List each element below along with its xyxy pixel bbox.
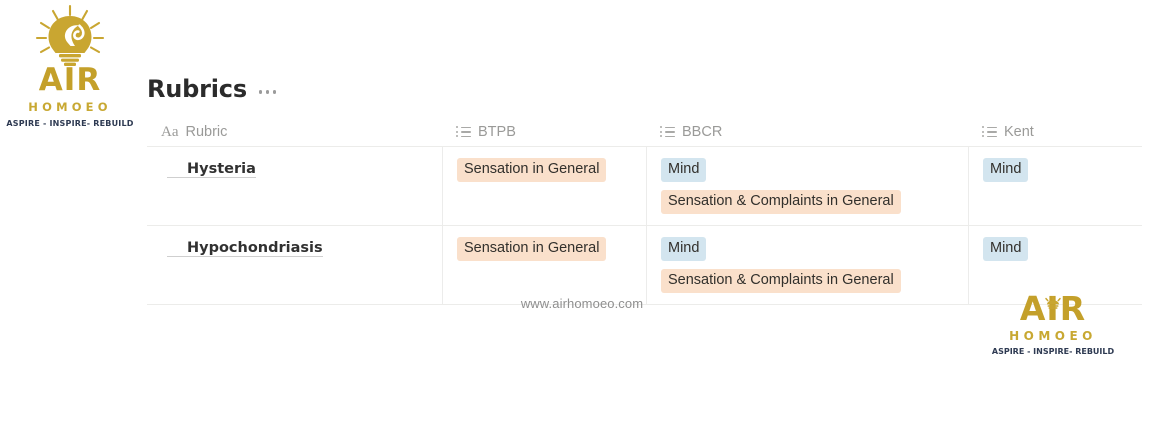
table-body: Hysteria Sensation in General Mind Sensa… xyxy=(147,146,1142,304)
multi-select-icon xyxy=(456,126,471,138)
column-header-label: BBCR xyxy=(682,124,722,140)
tag[interactable]: Sensation in General xyxy=(457,237,606,261)
brand-tagline: ASPIRE - INSPIRE- REBUILD xyxy=(983,347,1123,356)
dot xyxy=(273,90,277,94)
tag[interactable]: Mind xyxy=(983,158,1028,182)
brand-subname: HOMOEO xyxy=(0,100,140,114)
multi-select-icon xyxy=(982,126,997,138)
tag[interactable]: Sensation & Complaints in General xyxy=(661,190,901,214)
tag[interactable]: Mind xyxy=(983,237,1028,261)
table-row: Hysteria Sensation in General Mind Sensa… xyxy=(147,146,1142,225)
rubric-link[interactable]: Hypochondriasis xyxy=(167,240,323,257)
cell-btpb[interactable]: Sensation in General xyxy=(442,226,646,304)
dot xyxy=(266,90,270,94)
page-title: Rubrics xyxy=(147,77,247,101)
dot xyxy=(259,90,263,94)
brand-tagline: ASPIRE - INSPIRE- REBUILD xyxy=(0,119,140,128)
tag-list: Sensation in General xyxy=(457,237,638,261)
lightbulb-icon xyxy=(1040,282,1066,296)
title-text-icon: Aa xyxy=(161,125,179,140)
table-header-row: Aa Rubric BTPB BBCR Kent xyxy=(147,118,1142,146)
column-header-label: Kent xyxy=(1004,124,1034,140)
page-header: Rubrics xyxy=(147,77,278,101)
cell-btpb[interactable]: Sensation in General xyxy=(442,147,646,225)
cell-bbcr[interactable]: Mind Sensation & Complaints in General xyxy=(646,226,968,304)
tag-list: Mind Sensation & Complaints in General xyxy=(661,158,960,214)
tag[interactable]: Sensation in General xyxy=(457,158,606,182)
tag[interactable]: Sensation & Complaints in General xyxy=(661,269,901,293)
rubric-link[interactable]: Hysteria xyxy=(167,161,256,178)
column-header-btpb[interactable]: BTPB xyxy=(442,118,646,146)
brand-subname: HOMOEO xyxy=(983,329,1123,343)
tag[interactable]: Mind xyxy=(661,237,706,261)
rubrics-table: Aa Rubric BTPB BBCR Kent Hysteria xyxy=(147,118,1142,305)
cell-rubric-name: Hypochondriasis xyxy=(147,226,442,304)
brand-name: AIR xyxy=(983,292,1123,326)
column-header-bbcr[interactable]: BBCR xyxy=(646,118,968,146)
multi-select-icon xyxy=(660,126,675,138)
tag-list: Mind xyxy=(983,237,1134,261)
brand-logo-left: AIR HOMOEO ASPIRE - INSPIRE- REBUILD xyxy=(0,4,140,128)
column-header-rubric[interactable]: Aa Rubric xyxy=(147,118,442,146)
lightbulb-icon xyxy=(0,4,140,66)
more-options-icon[interactable] xyxy=(257,84,279,94)
cell-bbcr[interactable]: Mind Sensation & Complaints in General xyxy=(646,147,968,225)
tag-list: Mind xyxy=(983,158,1134,182)
cell-rubric-name: Hysteria xyxy=(147,147,442,225)
brand-name: AIR xyxy=(0,65,140,95)
brand-logo-footer: AIR HOMOEO ASPIRE - INSPIRE- REBUILD xyxy=(983,292,1123,356)
tag-list: Mind Sensation & Complaints in General xyxy=(661,237,960,293)
tag[interactable]: Mind xyxy=(661,158,706,182)
column-header-label: Rubric xyxy=(186,124,228,140)
column-header-kent[interactable]: Kent xyxy=(968,118,1142,146)
tag-list: Sensation in General xyxy=(457,158,638,182)
page-root: AIR HOMOEO ASPIRE - INSPIRE- REBUILD Rub… xyxy=(0,0,1164,431)
cell-kent[interactable]: Mind xyxy=(968,147,1142,225)
column-header-label: BTPB xyxy=(478,124,516,140)
